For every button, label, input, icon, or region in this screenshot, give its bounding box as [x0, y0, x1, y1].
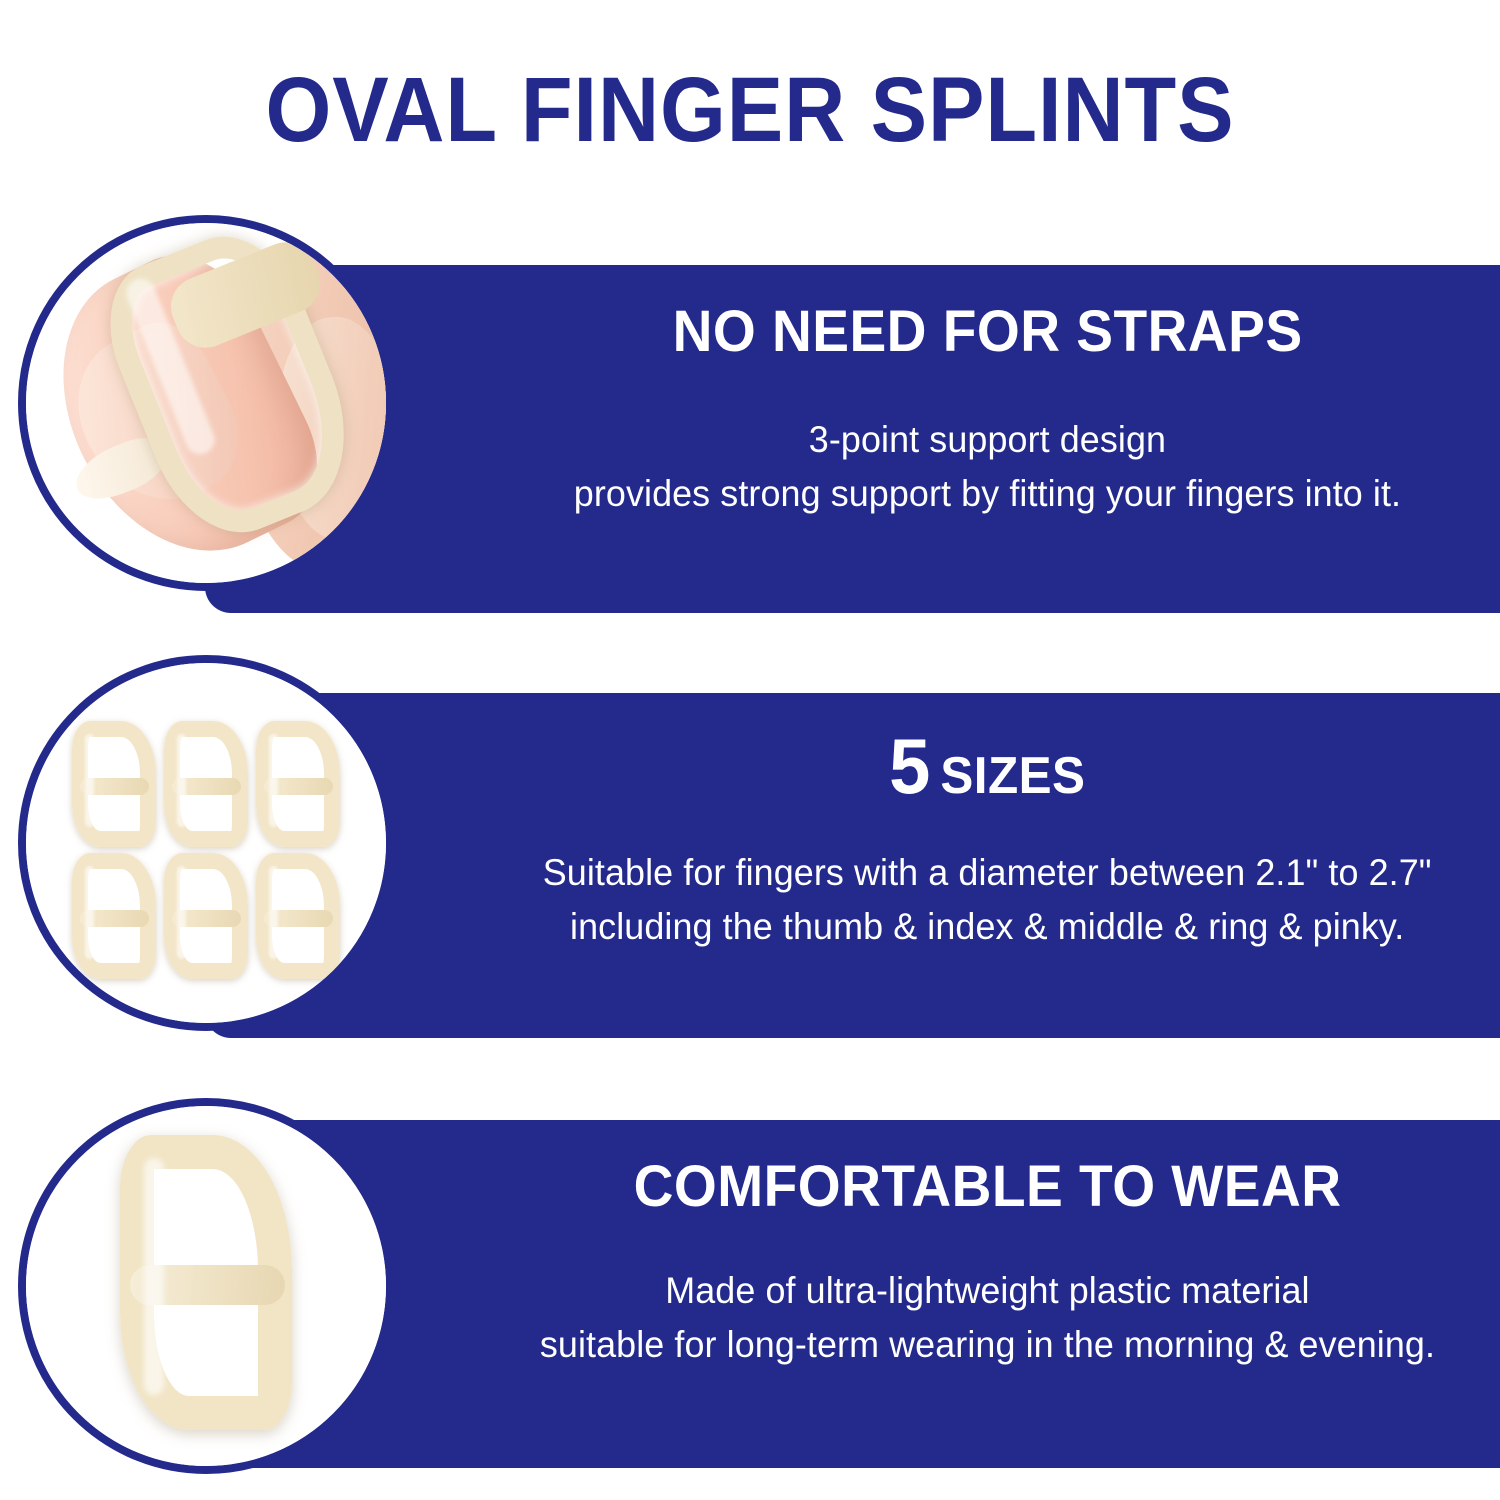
splint-item: [120, 1135, 293, 1430]
feature-headline: COMFORTABLE TO WEAR: [634, 1158, 1342, 1216]
banner-content: 5 SIZES Suitable for fingers with a diam…: [495, 693, 1480, 1038]
splint-item: [256, 853, 340, 979]
splint-highlight-shape: [177, 734, 186, 827]
banner-content: NO NEED FOR STRAPS 3-point support desig…: [495, 265, 1480, 613]
feature-headline: NO NEED FOR STRAPS: [672, 303, 1302, 361]
feature-row-no-straps: NO NEED FOR STRAPS 3-point support desig…: [0, 215, 1500, 615]
body-line: provides strong support by fitting your …: [574, 467, 1401, 521]
splint-highlight-shape: [269, 734, 278, 827]
splint-item: [256, 721, 340, 847]
splint-item: [164, 853, 248, 979]
sizes-count: 5: [889, 731, 931, 801]
feature-image-circle: [18, 655, 394, 1031]
splint-item: [72, 721, 156, 847]
feature-body: Suitable for fingers with a diameter bet…: [543, 846, 1432, 953]
feature-body: 3-point support design provides strong s…: [574, 413, 1401, 520]
body-line: Suitable for fingers with a diameter bet…: [543, 846, 1432, 900]
body-line: Made of ultra-lightweight plastic materi…: [540, 1264, 1435, 1318]
page-title: OVAL FINGER SPLINTS: [60, 62, 1440, 159]
banner-content: COMFORTABLE TO WEAR Made of ultra-lightw…: [495, 1120, 1480, 1468]
sizes-label: SIZES: [941, 750, 1086, 802]
six-splints-icon: [26, 663, 386, 1023]
splint-highlight-shape: [85, 734, 94, 827]
feature-image-circle: [18, 215, 394, 591]
body-line: including the thumb & index & middle & r…: [543, 900, 1432, 954]
body-line: 3-point support design: [574, 413, 1401, 467]
single-splint-icon: [26, 1106, 386, 1466]
splint-highlight-shape: [144, 1158, 164, 1394]
infographic-page: OVAL FINGER SPLINTS NO NEED FOR STRAPS 3…: [0, 0, 1500, 1500]
splint-item: [72, 853, 156, 979]
feature-image-circle: [18, 1098, 394, 1474]
feature-body: Made of ultra-lightweight plastic materi…: [540, 1264, 1435, 1371]
finger-with-splint-icon: [26, 223, 386, 583]
feature-row-comfortable: COMFORTABLE TO WEAR Made of ultra-lightw…: [0, 1080, 1500, 1480]
splint-highlight-shape: [177, 866, 186, 959]
feature-headline: 5 SIZES: [889, 731, 1085, 802]
feature-banner: COMFORTABLE TO WEAR Made of ultra-lightw…: [205, 1120, 1500, 1468]
feature-banner: NO NEED FOR STRAPS 3-point support desig…: [205, 265, 1500, 613]
body-line: suitable for long-term wearing in the mo…: [540, 1318, 1435, 1372]
splint-item: [164, 721, 248, 847]
splint-highlight-shape: [85, 866, 94, 959]
splint-highlight-shape: [269, 866, 278, 959]
feature-banner: 5 SIZES Suitable for fingers with a diam…: [205, 693, 1500, 1038]
feature-row-five-sizes: 5 SIZES Suitable for fingers with a diam…: [0, 655, 1500, 1055]
